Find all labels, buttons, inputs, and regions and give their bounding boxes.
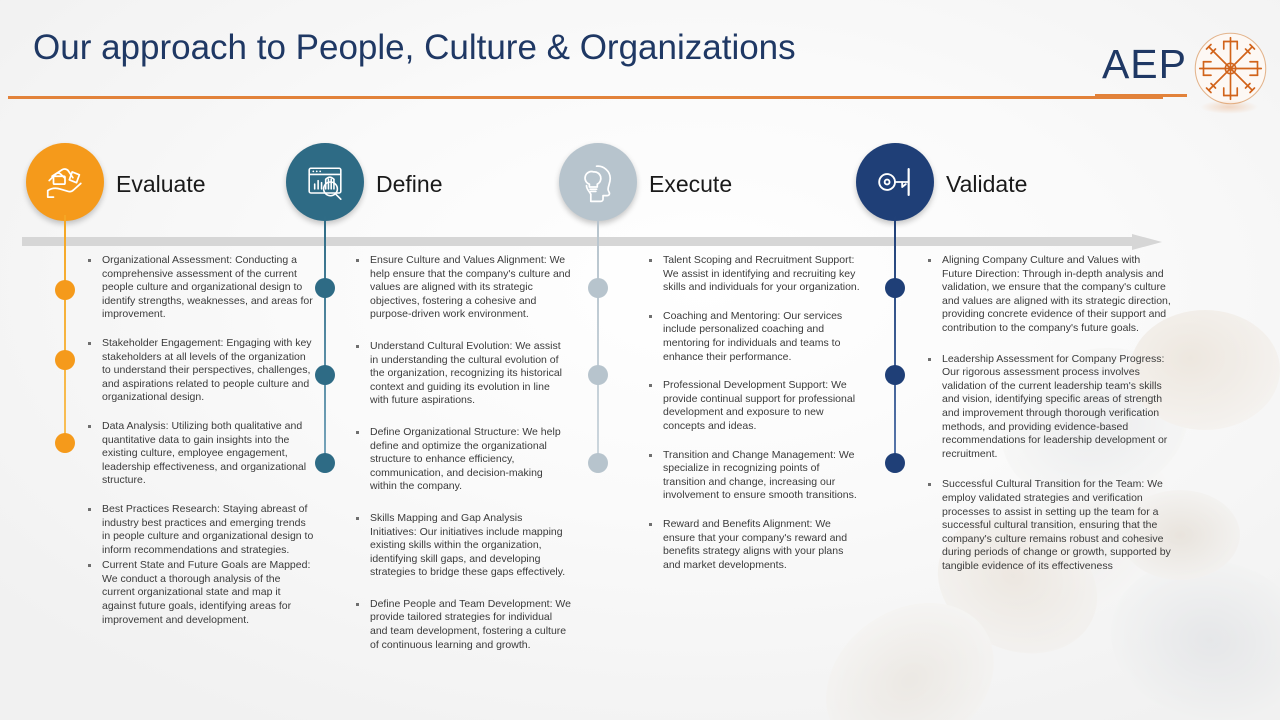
connector-dot (315, 278, 335, 298)
connector-dot (588, 453, 608, 473)
list-item: Professional Development Support: We pro… (646, 379, 861, 433)
list-item: Understand Cultural Evolution: We assist… (353, 340, 571, 408)
list-item: Stakeholder Engagement: Engaging with ke… (85, 337, 315, 405)
connector-dot (885, 278, 905, 298)
list-item: Define People and Team Development: We p… (353, 598, 571, 652)
brand-wordmark: AEP (1102, 44, 1187, 85)
head-lightbulb-idea-icon (559, 143, 637, 221)
dashboard-analysis-magnifier-icon (286, 143, 364, 221)
page-title: Our approach to People, Culture & Organi… (33, 28, 796, 68)
list-item: Coaching and Mentoring: Our services inc… (646, 310, 861, 364)
slide-canvas: Our approach to People, Culture & Organi… (0, 0, 1280, 720)
title-underline-rule (8, 96, 1163, 99)
bullet-list: Ensure Culture and Values Alignment: We … (353, 254, 571, 652)
connector-dot (55, 433, 75, 453)
list-item: Successful Cultural Transition for the T… (925, 478, 1173, 573)
list-item: Organizational Assessment: Conducting a … (85, 254, 315, 322)
list-item: Current State and Future Goals are Mappe… (85, 559, 315, 627)
list-item: Skills Mapping and Gap Analysis Initiati… (353, 512, 571, 580)
list-item: Define Organizational Structure: We help… (353, 426, 571, 494)
connector-execute (597, 215, 599, 470)
hands-exchange-icon (26, 143, 104, 221)
logo-shadow (1200, 100, 1258, 114)
bullet-list: Aligning Company Culture and Values with… (925, 254, 1173, 573)
bullet-column-define: Ensure Culture and Values Alignment: We … (353, 254, 571, 670)
connector-dot (588, 365, 608, 385)
list-item: Talent Scoping and Recruitment Support: … (646, 254, 861, 295)
connector-define (324, 215, 326, 470)
bullet-column-validate: Aligning Company Culture and Values with… (925, 254, 1173, 590)
list-item: Aligning Company Culture and Values with… (925, 254, 1173, 336)
vegvisir-rune-compass-icon (1193, 31, 1268, 106)
bullet-column-execute: Talent Scoping and Recruitment Support: … (646, 254, 861, 587)
step-label: Define (376, 171, 442, 198)
connector-validate (894, 215, 896, 470)
process-flow-arrow (22, 234, 1162, 248)
list-item: Reward and Benefits Alignment: We ensure… (646, 518, 861, 572)
key-icon (856, 143, 934, 221)
list-item: Ensure Culture and Values Alignment: We … (353, 254, 571, 322)
connector-dot (315, 453, 335, 473)
step-label: Evaluate (116, 171, 206, 198)
bullet-list: Talent Scoping and Recruitment Support: … (646, 254, 861, 572)
connector-dot (55, 280, 75, 300)
list-item: Transition and Change Management: We spe… (646, 449, 861, 503)
list-item: Leadership Assessment for Company Progre… (925, 353, 1173, 462)
connector-dot (315, 365, 335, 385)
step-label: Validate (946, 171, 1027, 198)
connector-dot (588, 278, 608, 298)
connector-dot (885, 365, 905, 385)
list-item: Best Practices Research: Staying abreast… (85, 503, 315, 557)
connector-dot (885, 453, 905, 473)
bullet-list: Organizational Assessment: Conducting a … (85, 254, 315, 627)
brand-underline-rule (1095, 94, 1187, 97)
list-item: Data Analysis: Utilizing both qualitativ… (85, 420, 315, 488)
bullet-column-evaluate: Organizational Assessment: Conducting a … (85, 254, 315, 642)
connector-evaluate (64, 215, 66, 450)
connector-dot (55, 350, 75, 370)
step-label: Execute (649, 171, 732, 198)
